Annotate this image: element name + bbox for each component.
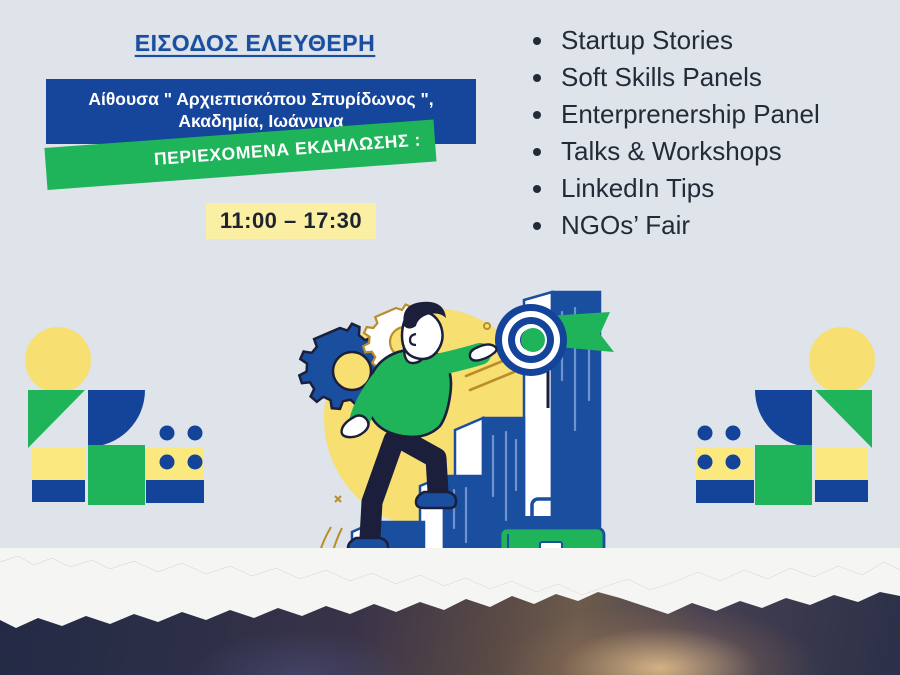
blue-quarter-circle: [755, 390, 812, 447]
illustration: [0, 290, 900, 580]
list-item: Enterprenership Panel: [527, 96, 897, 133]
blue-side-base: [146, 480, 204, 503]
blue-base-block: [815, 480, 868, 502]
dot-icon: [160, 455, 175, 470]
bottom-photo-strip: [0, 548, 900, 675]
bullet-icon: [533, 37, 541, 45]
free-entry-heading: ΕΙΣΟΔΟΣ ΕΛΕΥΘΕΡΗ: [0, 30, 510, 57]
bullseye-icon: [495, 304, 567, 376]
list-item: NGOs’ Fair: [527, 207, 897, 244]
illustration-svg: [0, 290, 900, 580]
agenda-items: Startup Stories Soft Skills Panels Enter…: [527, 22, 897, 244]
list-item-label: Startup Stories: [561, 25, 733, 55]
dot-icon: [726, 426, 741, 441]
bullet-icon: [533, 185, 541, 193]
dot-icon: [726, 455, 741, 470]
briefcase-top: [520, 516, 582, 528]
bullet-icon: [533, 74, 541, 82]
torn-paper-edge: [0, 548, 900, 675]
time-badge-label: 11:00 – 17:30: [206, 203, 376, 239]
agenda-list: Startup Stories Soft Skills Panels Enter…: [527, 22, 897, 244]
green-triangle: [28, 390, 85, 448]
sun-icon: [809, 327, 875, 393]
blue-quarter-circle: [88, 390, 145, 447]
blue-base-block: [32, 480, 85, 502]
list-item: Talks & Workshops: [527, 133, 897, 170]
event-poster: ΕΙΣΟΔΟΣ ΕΛΕΥΘΕΡΗ Αίθουσα " Αρχιεπισκόπου…: [0, 0, 900, 675]
list-item: Soft Skills Panels: [527, 59, 897, 96]
person-shoe-front: [416, 492, 456, 508]
left-decor-cluster: [25, 327, 204, 505]
list-item-label: NGOs’ Fair: [561, 210, 690, 240]
list-item-label: LinkedIn Tips: [561, 173, 714, 203]
list-item: Startup Stories: [527, 22, 897, 59]
dot-icon: [698, 426, 713, 441]
time-badge: 11:00 – 17:30: [206, 203, 376, 239]
gear-blue-hub: [333, 352, 371, 390]
list-item-label: Enterprenership Panel: [561, 99, 820, 129]
green-block: [755, 445, 812, 505]
green-block: [88, 445, 145, 505]
blue-side-base: [696, 480, 754, 503]
list-item-label: Soft Skills Panels: [561, 62, 762, 92]
bullet-icon: [533, 222, 541, 230]
bullet-icon: [533, 111, 541, 119]
venue-line-1: Αίθουσα " Αρχιεπισκόπου Σπυρίδωνος ",: [54, 88, 468, 110]
dot-icon: [188, 455, 203, 470]
list-item-label: Talks & Workshops: [561, 136, 782, 166]
dot-icon: [160, 426, 175, 441]
green-triangle: [815, 390, 872, 448]
bullet-icon: [533, 148, 541, 156]
dot-icon: [188, 426, 203, 441]
dot-icon: [698, 455, 713, 470]
right-decor-cluster: [696, 327, 875, 505]
list-item: LinkedIn Tips: [527, 170, 897, 207]
sun-icon: [25, 327, 91, 393]
